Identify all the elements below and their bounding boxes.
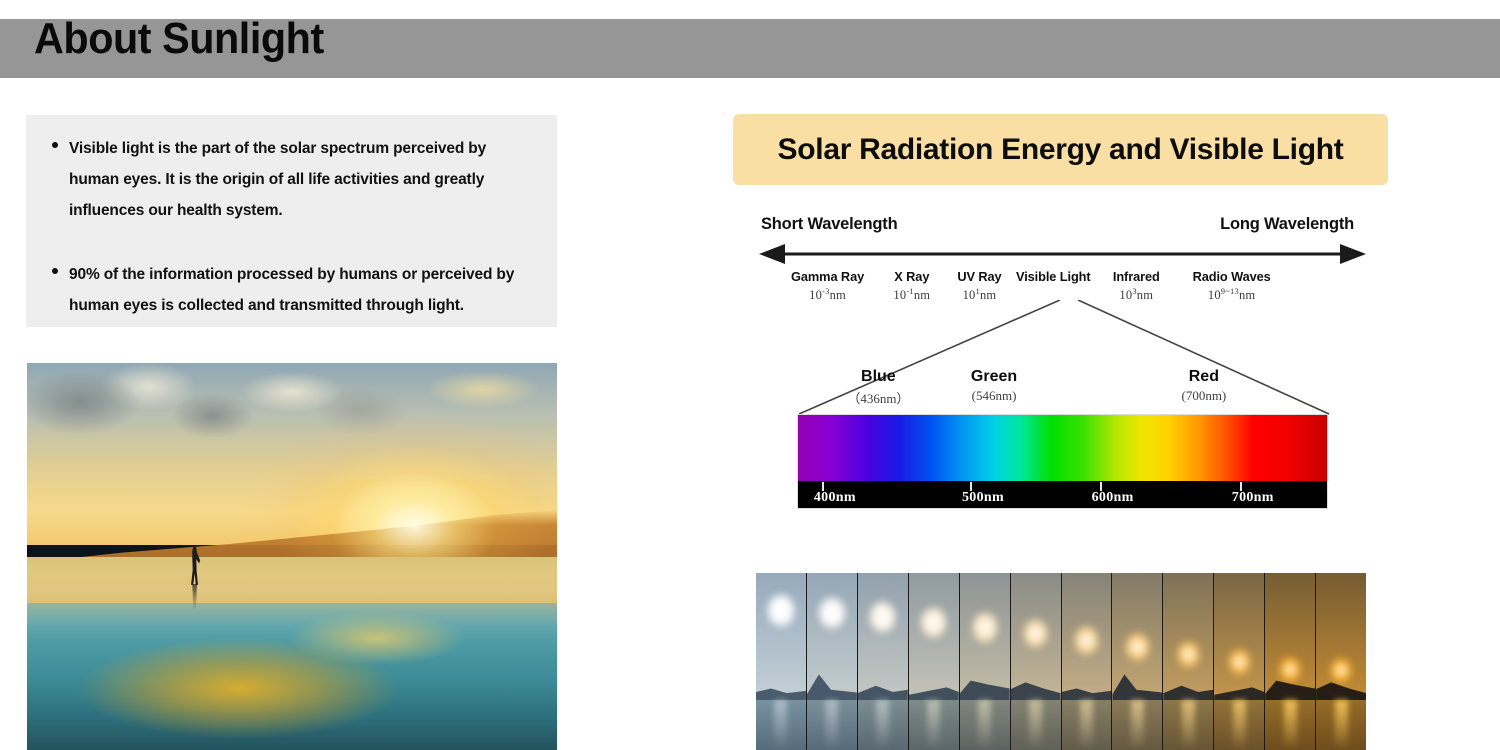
long-wavelength-label: Long Wavelength <box>1220 215 1354 234</box>
scale-tick-label: 500nm <box>962 490 1004 506</box>
color-wavelength: （436nm） <box>847 388 909 407</box>
visible-spectrum-bar: 400nm500nm600nm700nm <box>797 414 1328 509</box>
spectrum-band-x-ray: X Ray10-1nm <box>893 269 930 303</box>
strip-sun <box>1229 649 1250 675</box>
scale-tick-label: 700nm <box>1232 490 1274 506</box>
color-label-green: Green(546nm) <box>971 368 1017 404</box>
strip-sun-glint <box>774 700 787 750</box>
strip-sun <box>1178 641 1200 668</box>
color-label-blue: Blue（436nm） <box>847 368 909 407</box>
color-name: Red <box>1181 368 1226 386</box>
strip-sun-glint <box>825 700 838 750</box>
strip-sun-glint <box>927 700 940 750</box>
bullet-panel: Visible light is the part of the solar s… <box>26 115 557 327</box>
strip-sun <box>1331 658 1351 683</box>
color-wavelength: (546nm) <box>971 388 1017 404</box>
strip-panel <box>1316 573 1366 750</box>
strip-panel <box>807 573 858 750</box>
strip-panel <box>1214 573 1265 750</box>
spectrum-band-gamma-ray: Gamma Ray10-3nm <box>791 269 864 303</box>
strip-sun-glint <box>1335 700 1348 750</box>
strip-panel <box>1112 573 1163 750</box>
strip-sun-glint <box>1233 700 1246 750</box>
strip-sun <box>921 607 946 638</box>
band-name: UV Ray <box>957 269 1001 284</box>
bullet-text: 90% of the information processed by huma… <box>69 266 514 314</box>
short-wavelength-label: Short Wavelength <box>761 215 897 234</box>
spectrum-band-uv-ray: UV Ray101nm <box>957 269 1001 303</box>
strip-sky <box>807 573 857 700</box>
strip-sky <box>756 573 806 700</box>
spectrum-gradient <box>798 415 1327 483</box>
list-item: Visible light is the part of the solar s… <box>52 133 531 226</box>
slide-root: About Sunlight Visible light is the part… <box>0 0 1500 750</box>
band-name: Visible Light <box>1016 269 1091 284</box>
strip-sun <box>1075 626 1098 655</box>
strip-sun-glint <box>1029 700 1042 750</box>
bullet-dot-icon <box>52 142 58 148</box>
page-title: About Sunlight <box>34 15 324 63</box>
strip-sun-glint <box>1131 700 1144 750</box>
bullet-text: Visible light is the part of the solar s… <box>69 140 486 219</box>
strip-sun-glint <box>1284 700 1297 750</box>
strip-panel <box>1062 573 1113 750</box>
color-name: Blue <box>847 368 909 386</box>
strip-sun-glint <box>1182 700 1195 750</box>
strip-panel <box>1163 573 1214 750</box>
color-wavelength: (700nm) <box>1181 388 1226 404</box>
strip-sky <box>1214 573 1264 700</box>
band-name: Radio Waves <box>1193 269 1271 284</box>
color-label-red: Red(700nm) <box>1181 368 1226 404</box>
band-name: Gamma Ray <box>791 269 864 284</box>
strip-sky <box>1163 573 1213 700</box>
strip-sun <box>819 597 845 629</box>
strip-panel <box>858 573 909 750</box>
spectrum-band-visible-light: Visible Light <box>1016 269 1091 284</box>
strip-sky <box>858 573 908 700</box>
strip-sun-glint <box>978 700 991 750</box>
visible-color-labels: Blue（436nm）Green(546nm)Red(700nm) <box>795 368 1333 412</box>
strip-sun <box>1126 633 1148 661</box>
photo-shoreline-layer <box>27 572 557 626</box>
strip-sun <box>973 612 997 642</box>
band-name: Infrared <box>1113 269 1160 284</box>
banner-title: Solar Radiation Energy and Visible Light <box>778 133 1344 167</box>
color-name: Green <box>971 368 1017 386</box>
spectrum-band-radio-waves: Radio Waves109~13nm <box>1193 269 1271 303</box>
scale-tick-label: 600nm <box>1092 490 1134 506</box>
double-arrow-icon <box>755 243 1370 265</box>
strip-sun-glint <box>876 700 889 750</box>
photo-cloud-layer <box>27 363 557 495</box>
strip-sun <box>768 594 794 627</box>
sunset-beach-photo <box>27 363 557 750</box>
band-name: X Ray <box>893 269 930 284</box>
strip-panel <box>1265 573 1316 750</box>
scale-tick-label: 400nm <box>814 490 856 506</box>
list-item: 90% of the information processed by huma… <box>52 259 531 321</box>
bullet-dot-icon <box>52 268 58 274</box>
strip-sun-glint <box>1080 700 1093 750</box>
section-banner: Solar Radiation Energy and Visible Light <box>733 114 1388 185</box>
strip-panel <box>909 573 960 750</box>
strip-panel <box>756 573 807 750</box>
spectrum-scale: 400nm500nm600nm700nm <box>798 481 1327 508</box>
spectrum-band-infrared: Infrared103nm <box>1113 269 1160 303</box>
timelapse-photo-strip <box>756 573 1366 750</box>
strip-panel <box>960 573 1011 750</box>
strip-panel <box>1011 573 1062 750</box>
